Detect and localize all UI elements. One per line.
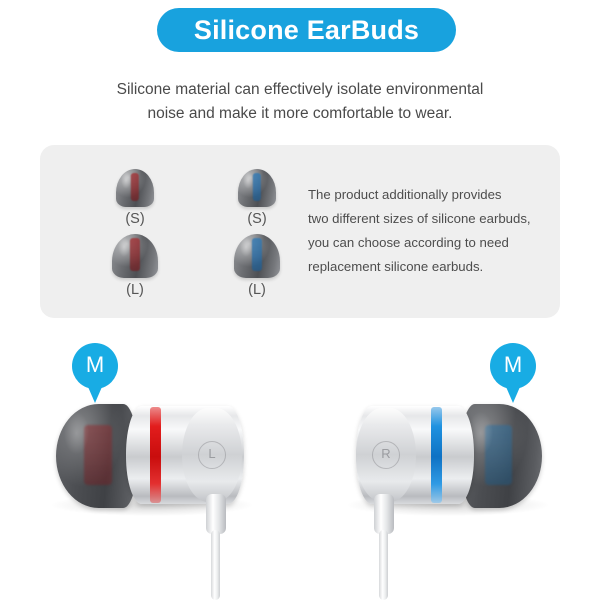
card-description-line-3: you can choose according to need [308, 231, 558, 255]
tip-size-label: (L) [222, 282, 292, 298]
earbud-color-stripe [150, 407, 161, 503]
card-description: The product additionally provides two di… [308, 183, 558, 279]
tip-highlight [243, 171, 253, 188]
earbud-cable [211, 530, 220, 600]
card-description-line-1: The product additionally provides [308, 183, 558, 207]
earbud-color-stripe [431, 407, 442, 503]
tip-item-large-blue: (L) [222, 234, 292, 298]
earbud-face: R [356, 408, 416, 502]
callout-pin-left: M [72, 343, 118, 403]
channel-mark-left: L [198, 441, 226, 469]
subtitle-line-2: noise and make it more comfortable to we… [60, 102, 540, 126]
tip-core [131, 173, 139, 201]
tip-size-label: (S) [100, 211, 170, 227]
card-description-line-2: two different sizes of silicone earbuds, [308, 207, 558, 231]
silicone-tip-icon [234, 234, 280, 278]
earbud-strain-relief [206, 494, 226, 534]
silicone-tip-icon [116, 169, 154, 207]
tip-item-small-blue: (S) [222, 169, 292, 227]
tip-item-large-red: (L) [100, 234, 170, 298]
subtitle-line-1: Silicone material can effectively isolat… [60, 78, 540, 102]
tip-core [130, 238, 140, 271]
earbud-left-illustration: L [42, 398, 272, 598]
tip-highlight [121, 171, 131, 188]
tip-size-label: (S) [222, 211, 292, 227]
silicone-tip-icon [112, 234, 158, 278]
page-title: Silicone EarBuds [194, 15, 419, 46]
pin-label: M [72, 343, 118, 387]
card-description-line-4: replacement silicone earbuds. [308, 255, 558, 279]
earbud-cable [379, 530, 388, 600]
silicone-tip-icon [238, 169, 276, 207]
tip-highlight [118, 237, 130, 257]
pin-label: M [490, 343, 536, 387]
earbud-right-illustration: R [328, 398, 558, 598]
callout-pin-right: M [490, 343, 536, 403]
earbud-strain-relief [374, 494, 394, 534]
header-banner: Silicone EarBuds [157, 8, 456, 52]
channel-mark-right: R [372, 441, 400, 469]
earbud-face: L [182, 408, 242, 502]
tip-size-label: (L) [100, 282, 170, 298]
tip-core [252, 238, 262, 271]
tip-item-small-red: (S) [100, 169, 170, 227]
subtitle-text: Silicone material can effectively isolat… [60, 78, 540, 126]
tip-core [253, 173, 261, 201]
tip-highlight [240, 237, 252, 257]
tip-highlight [64, 412, 89, 454]
